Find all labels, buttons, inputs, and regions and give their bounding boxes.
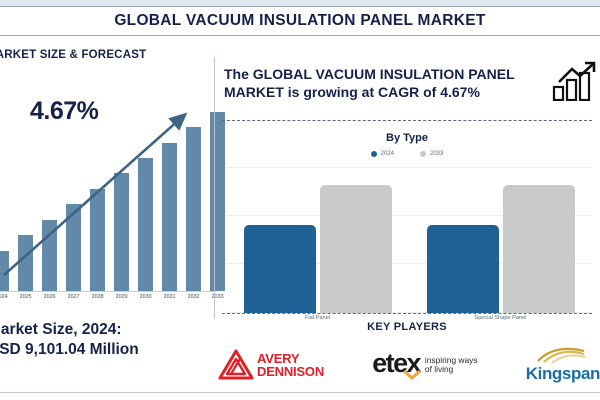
legend-item[interactable]: 2024	[371, 151, 394, 157]
forecast-year-label: 2031	[162, 294, 177, 300]
forecast-year-label: 2030	[138, 294, 153, 300]
kingspan-swoosh-icon	[534, 346, 588, 364]
market-size-forecast-label: MARKET SIZE & FORECAST	[0, 49, 146, 61]
by-type-bar	[427, 225, 499, 313]
etex-tagline-2: of living	[425, 365, 478, 374]
forecast-year-label: 2027	[66, 294, 81, 300]
vertical-divider	[214, 57, 215, 319]
avery-dennison-wordmark: AVERY DENNISON	[257, 352, 324, 379]
legend-swatch-icon	[371, 151, 377, 157]
key-players-divider	[222, 313, 592, 314]
key-players-logos: AVERY DENNISON etex inspiring ways of li…	[218, 339, 600, 391]
legend-item[interactable]: 2033	[420, 151, 443, 157]
forecast-bar	[90, 189, 105, 291]
bottom-rule	[0, 392, 600, 393]
by-type-plot-area	[226, 167, 592, 313]
forecast-year-label: 2025	[18, 294, 33, 300]
title-bar: GLOBAL VACUUM INSULATION PANEL MARKET	[0, 6, 600, 36]
forecast-bar	[66, 204, 81, 291]
page-title: GLOBAL VACUUM INSULATION PANEL MARKET	[114, 12, 485, 30]
market-size-value: Market Size, 2024: USD 9,101.04 Million	[0, 320, 139, 360]
headline-divider	[222, 120, 592, 121]
forecast-bar	[162, 143, 177, 291]
by-type-group	[417, 167, 585, 313]
market-size-line-1: Market Size, 2024:	[0, 320, 139, 340]
by-type-bar	[320, 185, 392, 313]
forecast-bar	[138, 158, 153, 291]
etex-chevron-icon	[403, 370, 421, 380]
forecast-year-labels: 2024202520262027202820292030203120322033	[0, 294, 216, 300]
forecast-axis-line	[0, 291, 214, 292]
forecast-bar	[18, 235, 33, 291]
logo-kingspan: Kingspan	[526, 346, 600, 384]
forecast-year-label: 2028	[90, 294, 105, 300]
forecast-year-label: 2029	[114, 294, 129, 300]
avery-line-2: DENNISON	[257, 365, 324, 378]
forecast-year-label: 2026	[42, 294, 57, 300]
legend-label: 2033	[430, 151, 443, 157]
forecast-bar	[186, 127, 201, 291]
forecast-bar	[42, 220, 57, 291]
by-type-bar	[244, 225, 316, 313]
infographic-canvas: MARKET SIZE & FORECAST 4.67% 20242025202…	[0, 37, 600, 400]
logo-etex: etex inspiring ways of living	[372, 353, 477, 377]
forecast-year-label: 2024	[0, 294, 9, 300]
forecast-bar	[114, 173, 129, 291]
avery-dennison-mark-icon	[218, 348, 254, 382]
by-type-bar	[503, 185, 575, 313]
forecast-year-label: 2033	[210, 294, 225, 300]
legend-swatch-icon	[420, 151, 426, 157]
by-type-legend: 20242033	[222, 151, 592, 157]
legend-label: 2024	[381, 151, 394, 157]
etex-tagline: inspiring ways of living	[425, 356, 478, 375]
key-players-title: KEY PLAYERS	[222, 321, 592, 333]
market-size-line-2: USD 9,101.04 Million	[0, 340, 139, 360]
logo-avery-dennison: AVERY DENNISON	[218, 348, 324, 382]
by-type-group	[234, 167, 402, 313]
avery-line-1: AVERY	[257, 352, 324, 365]
by-type-chart-title: By Type	[222, 132, 592, 144]
forecast-bars	[0, 101, 214, 291]
forecast-bar	[0, 251, 9, 291]
market-size-forecast-panel: MARKET SIZE & FORECAST 4.67% 20242025202…	[0, 37, 214, 357]
headline-text: The GLOBAL VACUUM INSULATION PANEL MARKE…	[224, 65, 534, 101]
headline-line-2: MARKET is growing at CAGR of 4.67%	[224, 83, 534, 101]
by-type-bar-groups	[226, 167, 592, 313]
headline-line-1: The GLOBAL VACUUM INSULATION PANEL	[224, 65, 534, 83]
kingspan-wordmark: Kingspan	[526, 364, 600, 384]
bar-chart-arrow-up-icon	[552, 61, 596, 101]
forecast-year-label: 2032	[186, 294, 201, 300]
forecast-bar-chart	[0, 95, 214, 307]
